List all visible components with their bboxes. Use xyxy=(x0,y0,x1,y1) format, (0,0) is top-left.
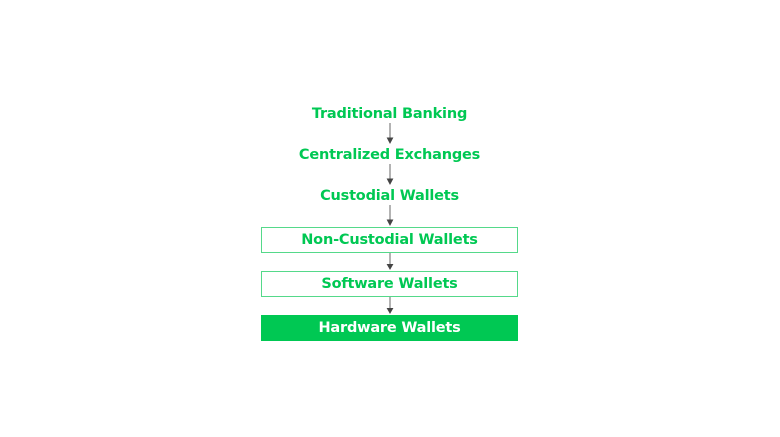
flow-node-centralized-exchanges[interactable]: Centralized Exchanges xyxy=(261,145,518,164)
flow-node-non-custodial-wallets[interactable]: Non-Custodial Wallets xyxy=(261,227,518,253)
arrow-down-icon xyxy=(384,164,396,186)
arrow-down-icon xyxy=(384,205,396,227)
flow-node-traditional-banking[interactable]: Traditional Banking xyxy=(261,104,518,123)
diagram-canvas: Traditional Banking Centralized Exchange… xyxy=(0,0,780,437)
flow-node-software-wallets[interactable]: Software Wallets xyxy=(261,271,518,297)
flow-node-custodial-wallets[interactable]: Custodial Wallets xyxy=(261,186,518,205)
flowchart: Traditional Banking Centralized Exchange… xyxy=(261,104,518,341)
flow-node-hardware-wallets[interactable]: Hardware Wallets xyxy=(261,315,518,341)
arrow-down-icon xyxy=(384,297,396,315)
arrow-down-icon xyxy=(384,123,396,145)
arrow-down-icon xyxy=(384,253,396,271)
